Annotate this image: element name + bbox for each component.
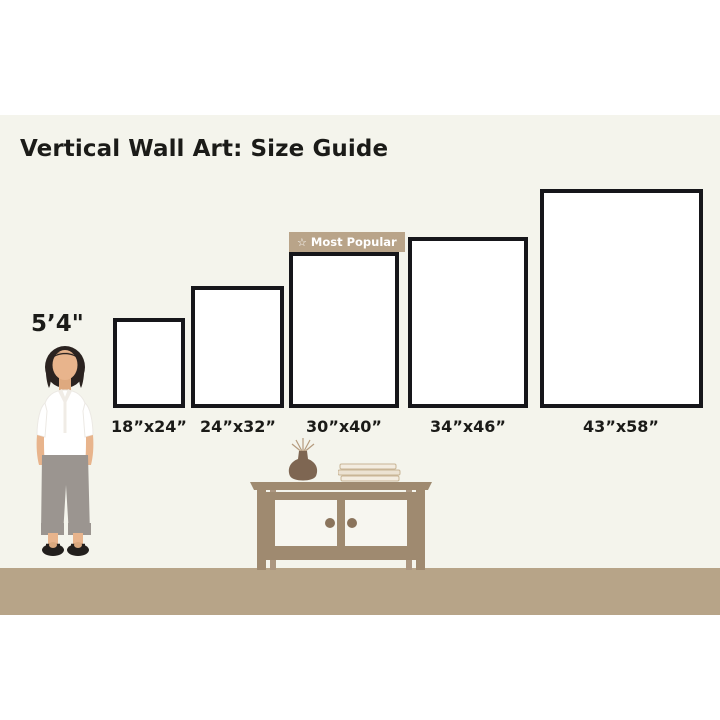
console-table <box>248 478 434 570</box>
size-label-30x40: 30”x40” <box>300 417 388 436</box>
size-label-18x24: 18”x24” <box>105 417 193 436</box>
scale-height-label: 5’4" <box>31 311 84 337</box>
page-title: Vertical Wall Art: Size Guide <box>20 136 388 162</box>
size-guide-illustration: Vertical Wall Art: Size Guide 5’4" <box>0 0 720 720</box>
star-icon: ☆ <box>297 237 307 248</box>
size-label-34x46: 34”x46” <box>424 417 512 436</box>
table-leg <box>257 490 266 570</box>
cabinet-knob <box>347 518 357 528</box>
most-popular-badge-label: Most Popular <box>311 235 397 249</box>
size-label-43x58: 43”x58” <box>577 417 665 436</box>
frame-24x32[interactable] <box>191 286 284 408</box>
table-top <box>250 482 432 490</box>
vase-body <box>289 451 317 481</box>
woman-scale-figure <box>28 345 102 577</box>
frame-43x58[interactable] <box>540 189 703 408</box>
floor-band <box>0 568 720 615</box>
ceramic-vase-with-stems <box>278 437 328 483</box>
face-icon <box>53 350 78 380</box>
frame-18x24[interactable] <box>113 318 185 408</box>
cabinet-knob <box>325 518 335 528</box>
size-label-24x32: 24”x32” <box>194 417 282 436</box>
frame-34x46[interactable] <box>408 237 528 408</box>
dried-stems-icon <box>292 438 314 453</box>
frame-30x40[interactable] <box>289 252 399 408</box>
table-leg <box>416 490 425 570</box>
most-popular-badge: ☆ Most Popular <box>289 232 405 252</box>
